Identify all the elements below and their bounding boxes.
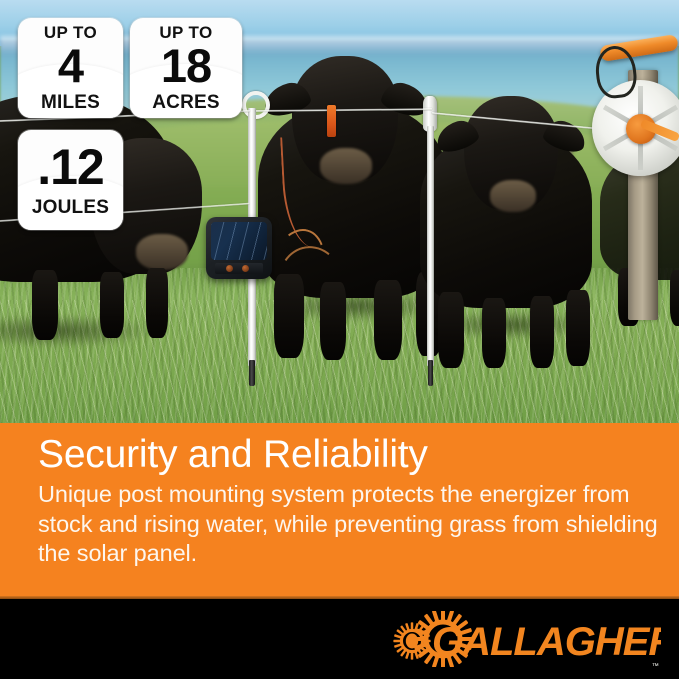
gallagher-logo: GALLAGHER (386, 611, 661, 667)
badge-acres-unit: ACRES (152, 93, 220, 112)
badge-acres-value: 18 (161, 44, 211, 87)
badge-miles-unit: MILES (41, 93, 100, 112)
post-spike-right (428, 360, 433, 386)
trademark-symbol: ™ (652, 663, 659, 670)
solar-panel (211, 222, 267, 260)
badge-area-acres: UP TO 18 ACRES (130, 18, 242, 118)
feature-banner: Security and Reliability Unique post mou… (0, 423, 679, 596)
wire-connector (327, 105, 336, 137)
badge-range-miles: UP TO 4 MILES (18, 18, 123, 118)
badge-joules-unit: JOULES (32, 198, 109, 217)
post-spike-left (249, 360, 255, 386)
product-photo: UP TO 4 MILES UP TO 18 ACRES .12 JOULES (0, 0, 679, 423)
post-eye-left (242, 91, 270, 119)
banner-description: Unique post mounting system protects the… (38, 480, 661, 569)
badge-joules-value: .12 (37, 144, 104, 190)
badge-miles-value: 4 (58, 44, 83, 87)
terminal-positive (226, 265, 233, 272)
energizer-terminal-panel (215, 263, 263, 274)
footer-bar: GALLAGHER ™ (0, 599, 679, 679)
logo-wordmark: GALLAGHER (432, 620, 661, 664)
solar-energizer (206, 217, 272, 279)
product-image-card: UP TO 4 MILES UP TO 18 ACRES .12 JOULES … (0, 0, 679, 679)
banner-title: Security and Reliability (38, 435, 661, 476)
terminal-negative (242, 265, 249, 272)
fence-post-right (427, 126, 434, 366)
badge-output-joules: .12 JOULES (18, 130, 123, 230)
